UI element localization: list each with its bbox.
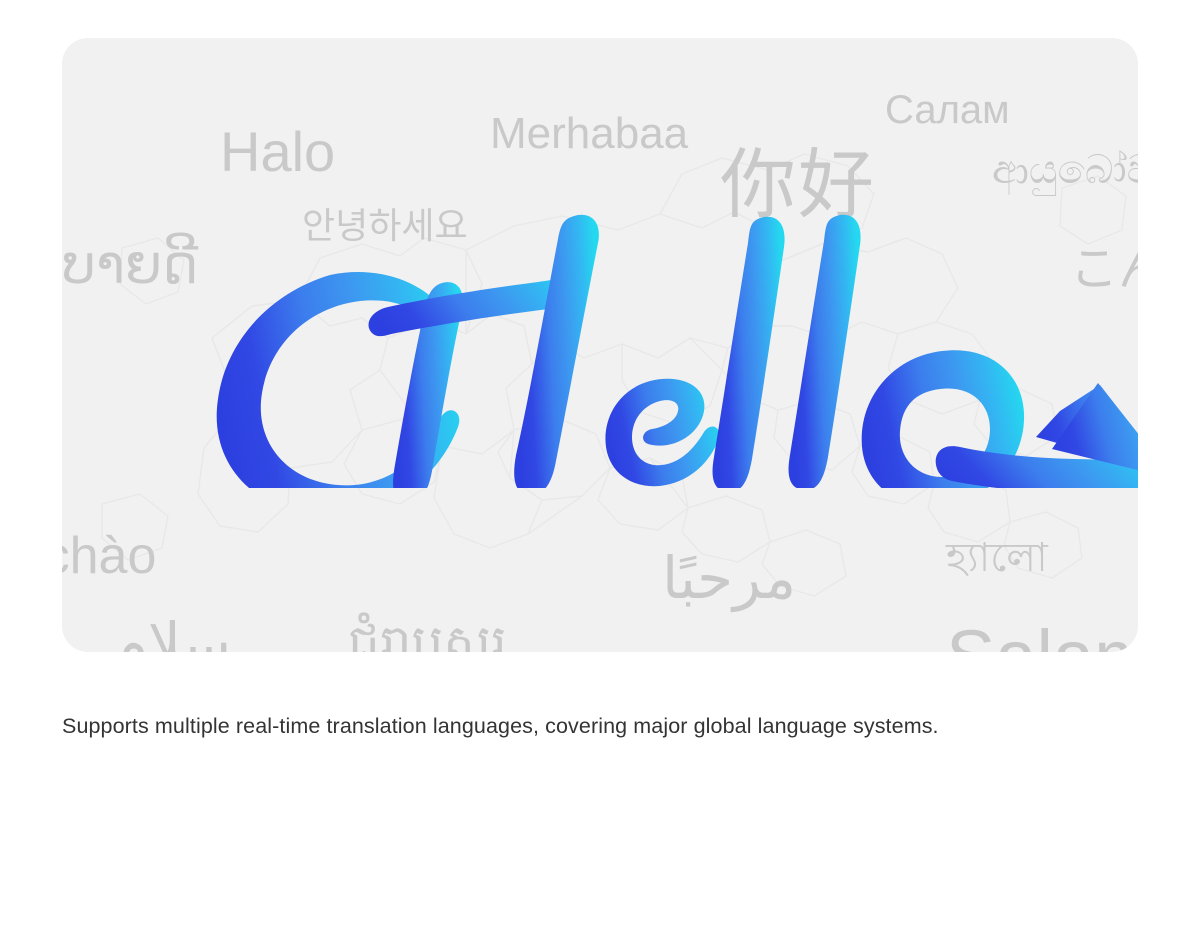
page-root: Halo Merhabaa Салам 你好 ආයුබෝවන් 안녕하세요 ສະ…: [0, 0, 1200, 949]
greeting-salam-arabic: سلام: [112, 616, 231, 652]
arrow-right-head-icon: [1052, 383, 1138, 479]
greeting-halo-bengali: হ্যালো: [946, 538, 1048, 578]
hello-wordmark: [152, 213, 1138, 488]
hello-letterforms: [217, 215, 1138, 488]
translation-languages-card: Halo Merhabaa Салам 你好 ආයුබෝවන් 안녕하세요 ສະ…: [62, 38, 1138, 652]
greeting-marhaba: مرحبًا: [662, 550, 796, 608]
arrow-right-icon: [1036, 385, 1138, 475]
greeting-salam-latin: Salam: [946, 620, 1138, 652]
greeting-annyeonghaseyo: 안녕하세요: [302, 208, 468, 244]
greeting-ayubowan: ආයුබෝවන්: [992, 150, 1138, 190]
greeting-konnichiwa: こんにちは: [1070, 246, 1138, 294]
greeting-merhabaa: Merhabaa: [490, 112, 688, 156]
feature-caption: Supports multiple real-time translation …: [62, 710, 1142, 742]
greeting-nihao: 你好: [720, 148, 876, 224]
greeting-halo: Halo: [220, 124, 335, 180]
greeting-salam-cyrillic: Салам: [885, 90, 1010, 130]
greeting-xin-chao: Xin chào: [62, 530, 156, 582]
greeting-jumreapsuor: ជំរាបសួរ: [348, 618, 507, 652]
greeting-sabaidee: ສະບາຍດີ: [62, 238, 198, 292]
